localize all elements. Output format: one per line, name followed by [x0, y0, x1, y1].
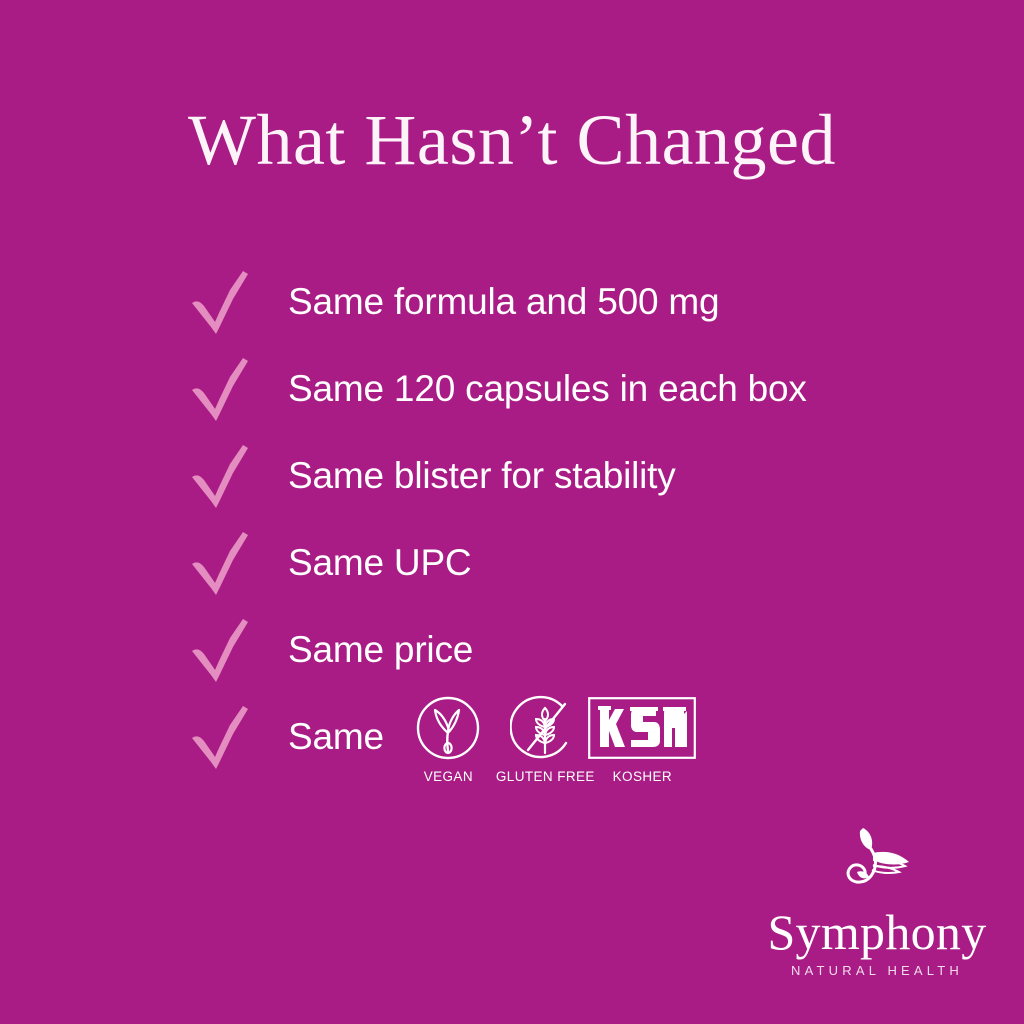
symphony-leaf-logo-icon [833, 822, 921, 908]
list-item-label: Same 120 capsules in each box [288, 370, 807, 407]
gluten-free-icon [510, 692, 580, 764]
checkmark-icon [186, 352, 260, 426]
list-item: Same formula and 500 mg [186, 258, 946, 345]
list-item: Same price [186, 606, 946, 693]
kosher-ksa-icon [588, 692, 696, 764]
checkmark-icon [186, 265, 260, 339]
badge-label: VEGAN [424, 769, 473, 784]
list-item: Same UPC [186, 519, 946, 606]
benefits-checklist: Same formula and 500 mg Same 120 capsule… [186, 258, 946, 780]
promo-graphic: What Hasn’t Changed Same formula and 500… [0, 0, 1024, 1024]
list-item: Same 120 capsules in each box [186, 345, 946, 432]
brand-tagline: NATURAL HEALTH [791, 963, 963, 978]
list-item-label: Same blister for stability [288, 457, 676, 494]
list-item-label: Same UPC [288, 544, 471, 581]
certification-badge-gluten-free: GLUTEN FREE [497, 692, 594, 784]
list-item-label: Same [288, 718, 384, 755]
list-item-label: Same price [288, 631, 473, 668]
list-item: Same VEGAN [186, 693, 946, 780]
checkmark-icon [186, 439, 260, 513]
badge-label: KOSHER [613, 769, 672, 784]
list-item-label: Same formula and 500 mg [288, 283, 719, 320]
checkmark-icon [186, 526, 260, 600]
certification-badges: VEGAN [400, 690, 691, 784]
checkmark-icon [186, 700, 260, 774]
page-title: What Hasn’t Changed [0, 104, 1024, 176]
brand-logo: Symphony NATURAL HEALTH [764, 822, 990, 979]
certification-badge-vegan: VEGAN [400, 692, 497, 784]
badge-label: GLUTEN FREE [496, 769, 595, 784]
vegan-icon [413, 692, 483, 764]
checkmark-icon [186, 613, 260, 687]
brand-name: Symphony [767, 906, 986, 959]
list-item: Same blister for stability [186, 432, 946, 519]
certification-badge-kosher: KOSHER [594, 692, 691, 784]
